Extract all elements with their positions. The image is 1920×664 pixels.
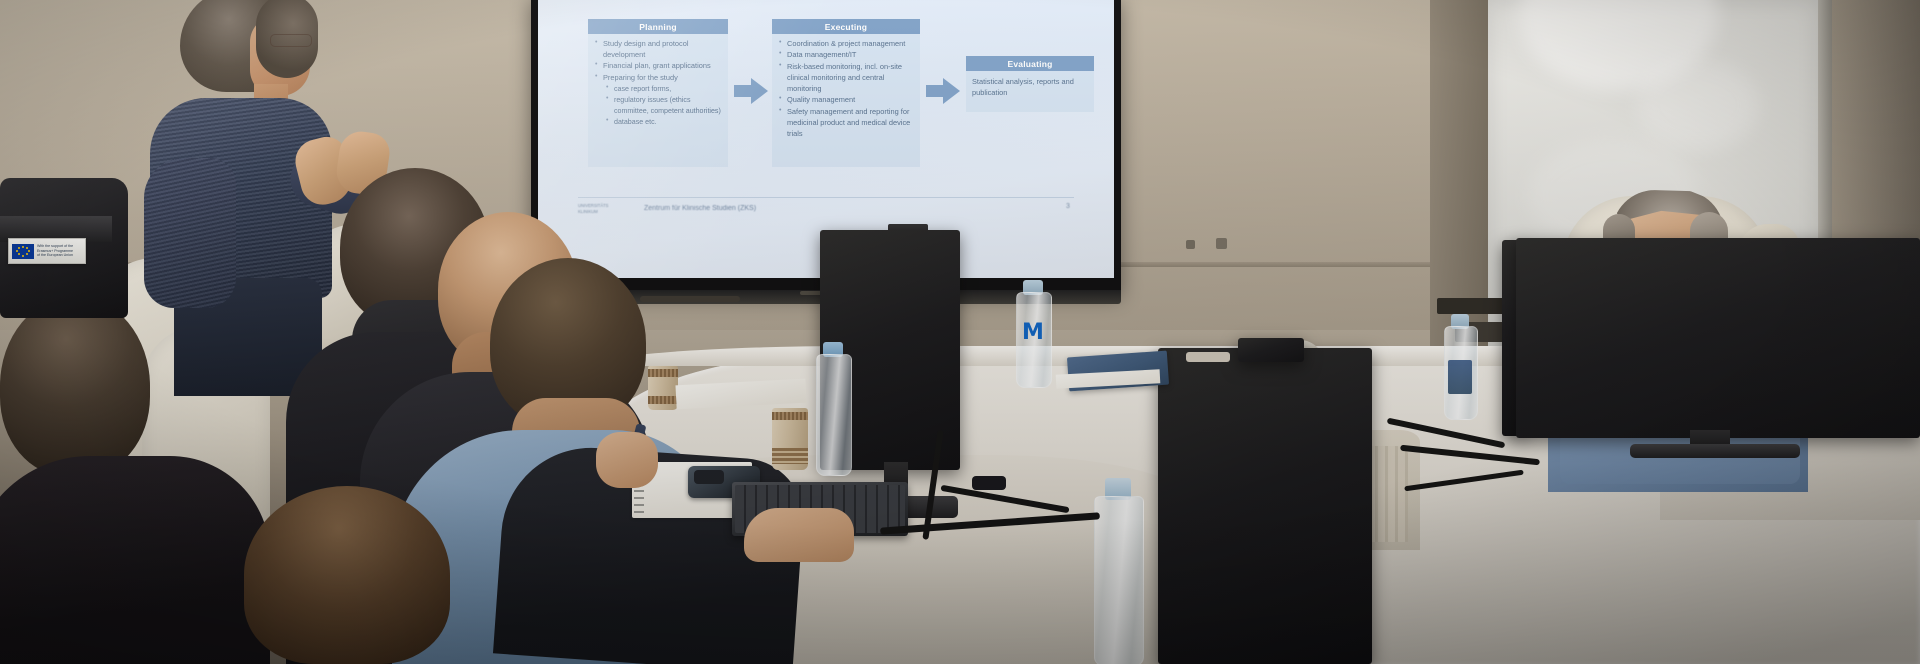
cup-band — [772, 448, 808, 464]
flow-box-executing-body: Coordination & project management Data m… — [772, 34, 920, 145]
slide-page-number: 3 — [1066, 203, 1070, 210]
list-item: Data management/IT — [778, 50, 915, 61]
list-item: Coordination & project management — [778, 39, 915, 50]
flow-box-evaluating-body: Statistical analysis, reports and public… — [966, 71, 1094, 103]
list-item: database etc. — [594, 117, 723, 127]
flow-box-evaluating: Evaluating Statistical analysis, reports… — [966, 56, 1094, 112]
participant-head-4 — [0, 296, 150, 476]
participant-hand-writing — [596, 432, 658, 488]
presenter-glasses — [270, 34, 312, 47]
presenter-sleeve — [144, 158, 236, 308]
arrow-right-icon — [734, 78, 768, 104]
list-item: Study design and protocol development — [594, 39, 723, 61]
paper-cup-stack — [772, 408, 808, 470]
list-item: Preparing for the study — [594, 73, 723, 84]
arrow-right-icon — [926, 78, 960, 104]
water-bottle-right — [1444, 314, 1476, 418]
desk-item — [1186, 352, 1230, 362]
phone-camera-module — [694, 470, 724, 484]
list-item: Safety management and reporting for medi… — [778, 107, 915, 140]
list-item: Quality management — [778, 95, 915, 106]
bottle-body — [1094, 496, 1144, 664]
bottle-body — [816, 354, 852, 476]
bottle-label: M — [1016, 320, 1050, 345]
flow-box-executing-header: Executing — [772, 19, 920, 34]
slide-footer: UNIVERSITÄTS KLINIKUM Zentrum für Klinis… — [578, 203, 1078, 214]
water-bottle-foreground — [1094, 478, 1142, 664]
list-item: Risk-based monitoring, incl. on-site cli… — [778, 62, 915, 95]
participant-head-5 — [244, 486, 450, 664]
water-bottle-center: M — [1016, 280, 1050, 386]
wall-socket — [1216, 238, 1227, 249]
participant-hand-on-keyboard — [744, 508, 854, 562]
monitor-base-right — [1630, 444, 1800, 458]
monitor-foreground-notch — [1238, 338, 1304, 362]
flow-box-planning-header: Planning — [588, 19, 728, 34]
cup-band — [648, 396, 678, 404]
monitor-foreground — [1158, 348, 1372, 664]
slide-footer-rule — [578, 197, 1074, 198]
wall-socket — [1186, 240, 1195, 249]
flow-box-planning: Planning Study design and protocol devel… — [588, 19, 728, 167]
projection-screen-mount — [640, 296, 740, 302]
flow-box-executing: Executing Coordination & project managem… — [772, 19, 920, 167]
paper-cup-back — [648, 366, 678, 410]
evaluating-text: Statistical analysis, reports and public… — [972, 76, 1089, 98]
flow-box-evaluating-header: Evaluating — [966, 56, 1094, 71]
university-logo: UNIVERSITÄTS KLINIKUM — [578, 203, 634, 214]
cup-band — [648, 369, 678, 377]
list-item: case report forms, — [594, 84, 723, 94]
participant-body-4 — [0, 456, 270, 664]
flow-box-planning-body: Study design and protocol development Fi… — [588, 34, 728, 133]
eu-flag-icon — [12, 244, 34, 259]
cable — [972, 476, 1006, 490]
eu-placard-text: With the support of the Erasmus+ Program… — [37, 244, 73, 257]
list-item: Financial plan, grant applications — [594, 61, 723, 72]
cup-band — [772, 412, 808, 420]
meeting-room-photo: ...pport at all stages of a clinical tri… — [0, 0, 1920, 664]
list-item: regulatory issues (ethics committee, com… — [594, 95, 723, 116]
bottle-label-band — [1448, 360, 1472, 394]
water-bottle-left — [816, 342, 850, 474]
eu-erasmus-placard: With the support of the Erasmus+ Program… — [8, 238, 86, 264]
slide-footer-text: Zentrum für Klinische Studien (ZKS) — [644, 205, 756, 212]
monitor-right-panel — [1516, 238, 1920, 438]
